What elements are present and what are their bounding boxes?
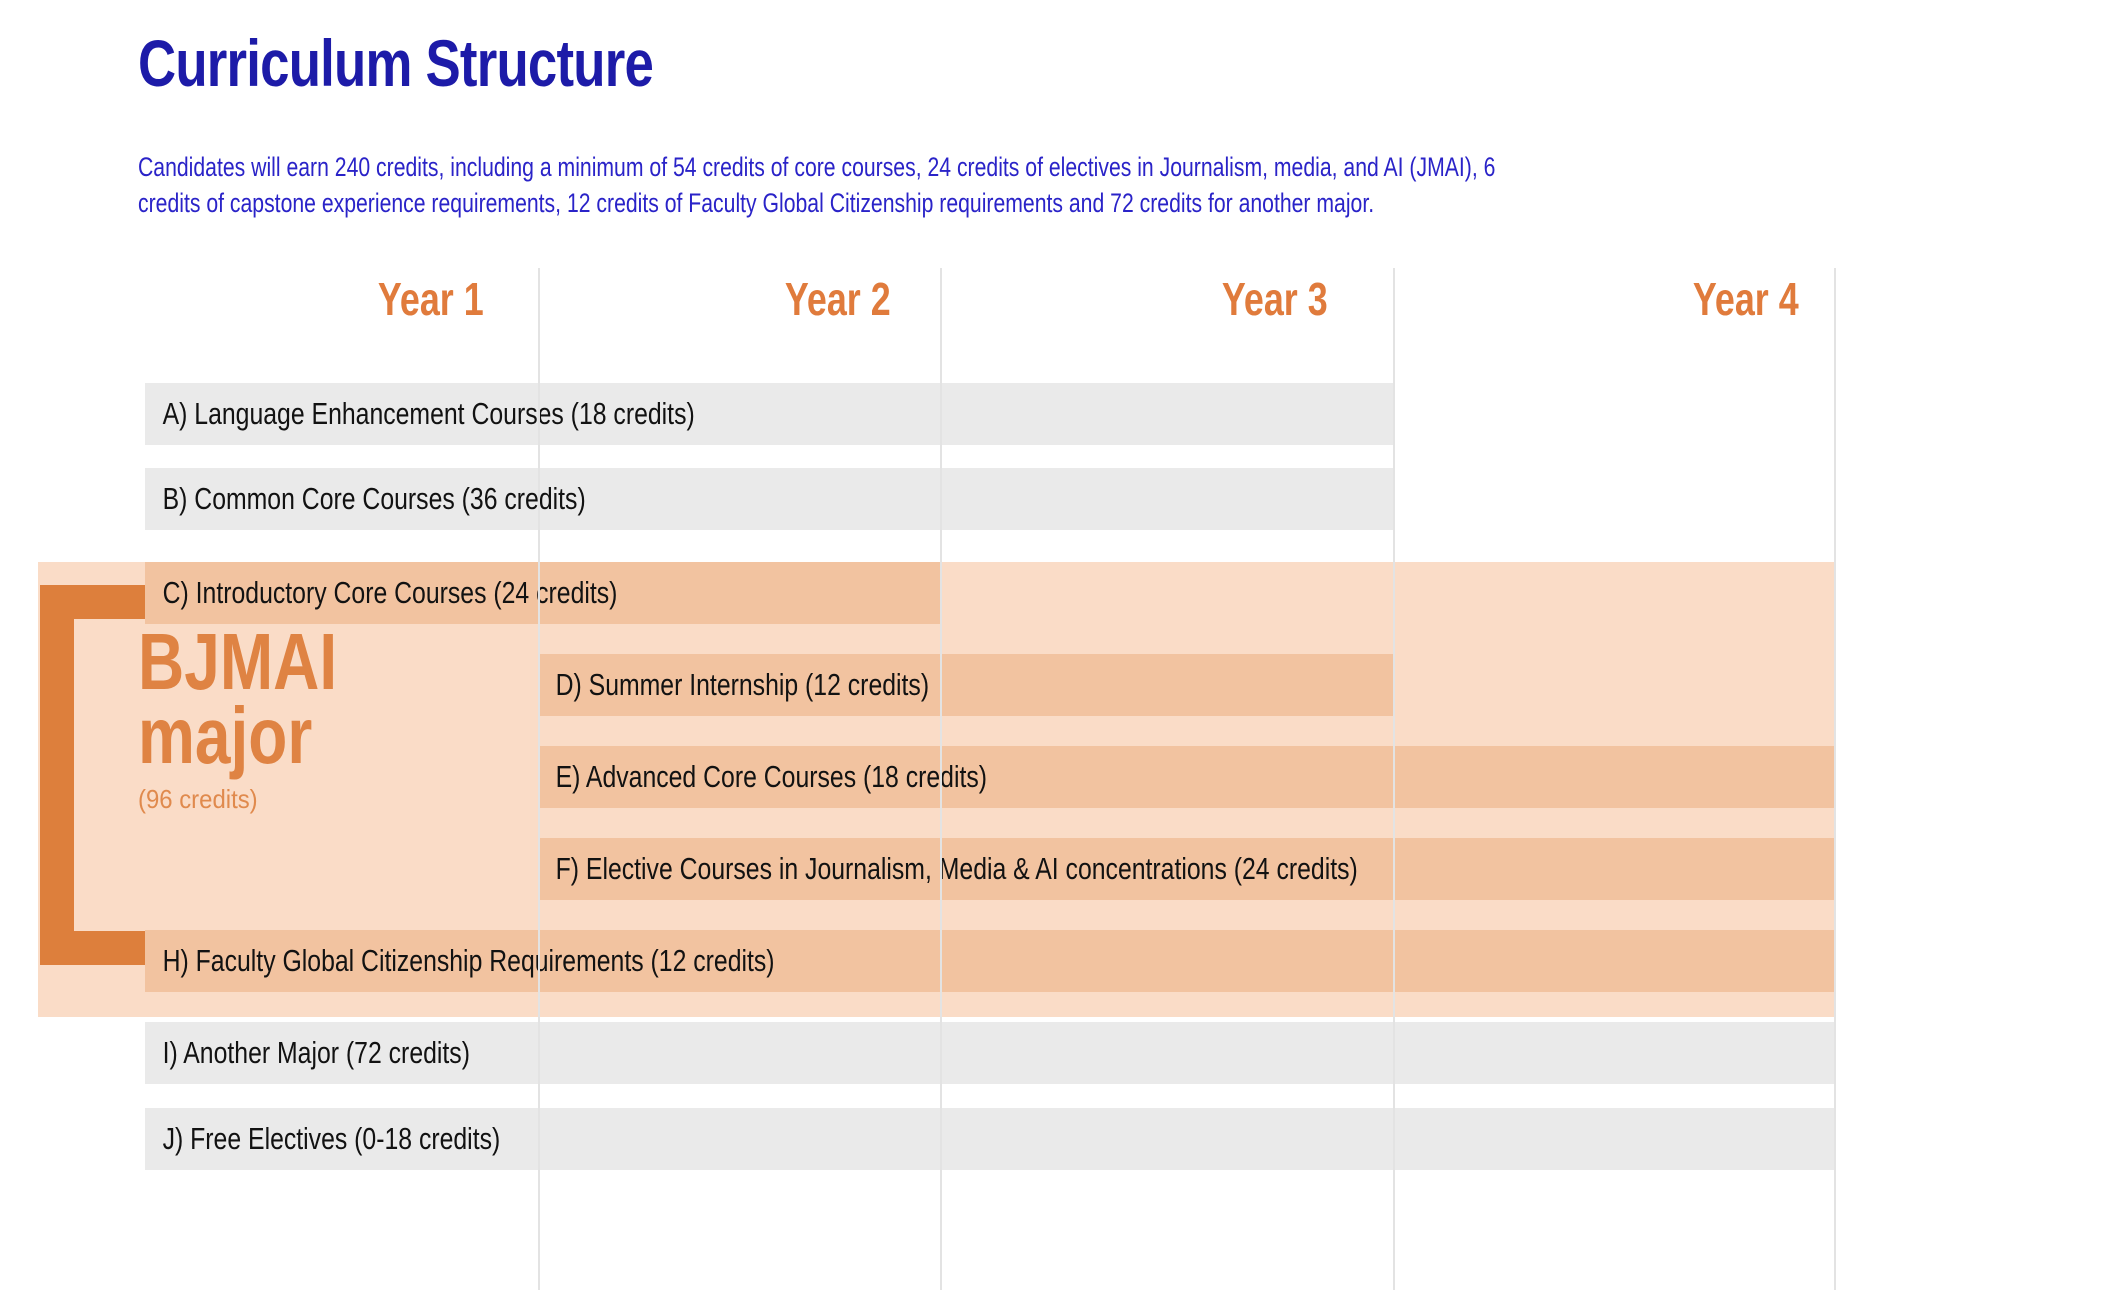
curriculum-row-b: B) Common Core Courses (36 credits) bbox=[145, 468, 1393, 530]
column-divider-4 bbox=[1834, 268, 1836, 1290]
curriculum-row-a: A) Language Enhancement Courses (18 cred… bbox=[145, 383, 1393, 445]
bjmai-credits: (96 credits) bbox=[138, 784, 488, 815]
curriculum-row-label: I) Another Major (72 credits) bbox=[145, 1035, 1496, 1071]
curriculum-row-h: H) Faculty Global Citizenship Requiremen… bbox=[145, 930, 1834, 992]
curriculum-row-c: C) Introductory Core Courses (24 credits… bbox=[145, 562, 940, 624]
curriculum-row-d: D) Summer Internship (12 credits) bbox=[538, 654, 1393, 716]
bjmai-kind: major bbox=[138, 699, 442, 773]
bjmai-name: BJMAI bbox=[138, 625, 442, 699]
curriculum-row-label: A) Language Enhancement Courses (18 cred… bbox=[145, 396, 1143, 432]
curriculum-row-label: D) Summer Internship (12 credits) bbox=[538, 667, 1222, 703]
curriculum-row-label: F) Elective Courses in Journalism, Media… bbox=[538, 851, 1575, 887]
curriculum-row-label: J) Free Electives (0-18 credits) bbox=[145, 1121, 1496, 1157]
curriculum-row-label: H) Faculty Global Citizenship Requiremen… bbox=[145, 943, 1496, 979]
curriculum-grid: A) Language Enhancement Courses (18 cred… bbox=[0, 0, 2116, 1290]
year-header-1: Year 1 bbox=[378, 272, 484, 326]
curriculum-row-label: E) Advanced Core Courses (18 credits) bbox=[538, 759, 1575, 795]
curriculum-row-j: J) Free Electives (0-18 credits) bbox=[145, 1108, 1834, 1170]
curriculum-row-label: B) Common Core Courses (36 credits) bbox=[145, 481, 1143, 517]
bjmai-major-label: BJMAI major (96 credits) bbox=[138, 625, 518, 815]
curriculum-row-label: C) Introductory Core Courses (24 credits… bbox=[145, 575, 781, 611]
year-header-2: Year 2 bbox=[785, 272, 891, 326]
curriculum-row-i: I) Another Major (72 credits) bbox=[145, 1022, 1834, 1084]
curriculum-row-e: E) Advanced Core Courses (18 credits) bbox=[538, 746, 1834, 808]
column-divider-2 bbox=[940, 268, 942, 1290]
curriculum-row-f: F) Elective Courses in Journalism, Media… bbox=[538, 838, 1834, 900]
year-header-3: Year 3 bbox=[1222, 272, 1328, 326]
column-divider-3 bbox=[1393, 268, 1395, 1290]
column-divider-1 bbox=[538, 268, 540, 1290]
year-header-4: Year 4 bbox=[1693, 272, 1799, 326]
